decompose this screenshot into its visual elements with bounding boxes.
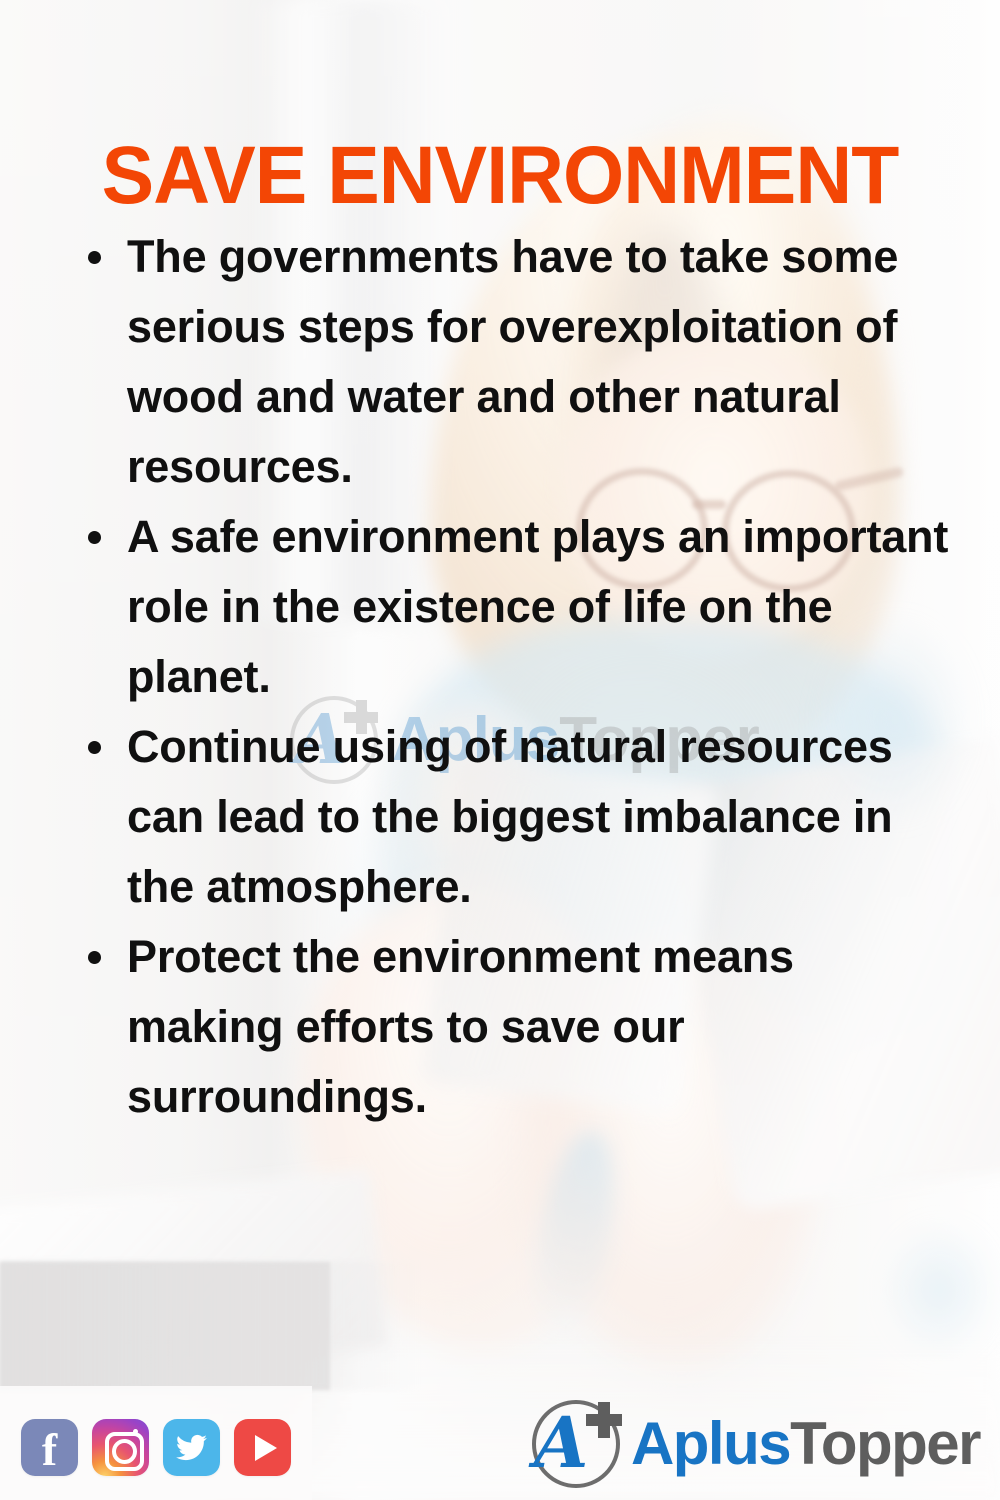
brand-word-blue: Aplus [631,1410,790,1477]
brand-letter-a: A [534,1408,588,1478]
instagram-icon[interactable] [92,1419,149,1476]
instagram-dot-shape [133,1429,138,1434]
instagram-lens-shape [112,1439,137,1464]
list-item: A safe environment plays an important ro… [70,502,960,712]
brand-plus-icon [586,1402,622,1438]
youtube-icon[interactable] [234,1419,291,1476]
social-links: f [21,1419,291,1476]
brand-logo-aplustopper[interactable]: A AplusTopper [530,1398,980,1490]
facebook-glyph: f [21,1427,78,1476]
youtube-play-triangle [255,1435,277,1461]
list-item: Protect the environment means making eff… [70,922,960,1132]
bullet-dot-icon [88,251,101,264]
list-item: Continue using of natural resources can … [70,712,960,922]
facebook-icon[interactable]: f [21,1419,78,1476]
poster-canvas: A AplusTopper SAVE ENVIRONMENT The gover… [0,0,1000,1500]
twitter-bird-glyph [174,1432,209,1463]
page-title: SAVE ENVIRONMENT [20,133,980,219]
twitter-icon[interactable] [163,1419,220,1476]
list-item: The governments have to take some seriou… [70,222,960,502]
bullet-list: The governments have to take some seriou… [70,222,960,1132]
bullet-dot-icon [88,741,101,754]
list-item-text: Protect the environment means making eff… [127,922,960,1132]
brand-wordmark: AplusTopper [631,1413,980,1475]
bullet-dot-icon [88,531,101,544]
list-item-text: A safe environment plays an important ro… [127,502,960,712]
bullet-dot-icon [88,951,101,964]
brand-word-gray: Topper [790,1410,980,1477]
list-item-text: Continue using of natural resources can … [127,712,960,922]
list-item-text: The governments have to take some seriou… [127,222,960,502]
brand-a-plus-icon: A [530,1398,622,1490]
